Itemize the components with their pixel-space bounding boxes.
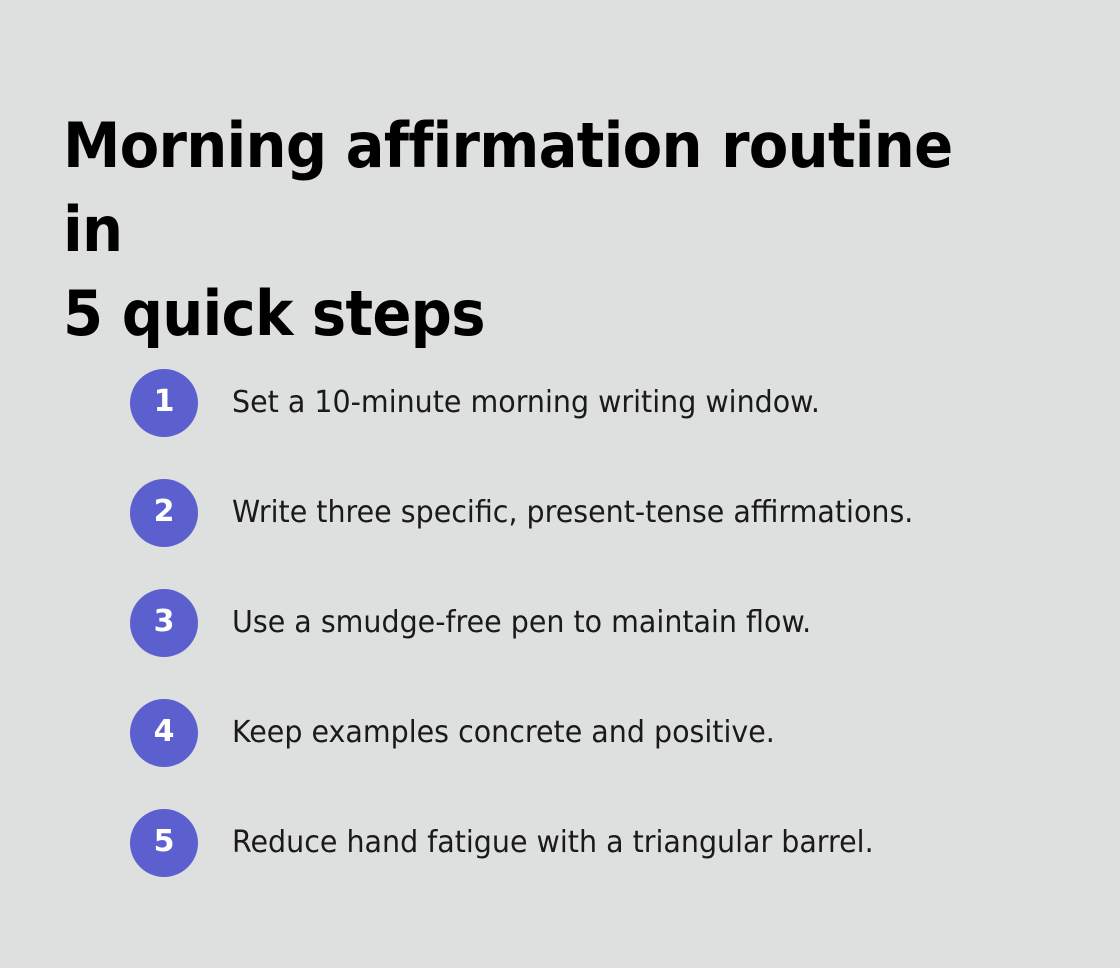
step-number-badge: 5 <box>130 809 198 877</box>
step-number-badge: 2 <box>130 479 198 547</box>
step-label: Write three specific, present-tense affi… <box>232 493 913 533</box>
list-item: 1 Set a 10-minute morning writing window… <box>130 369 1060 437</box>
list-item: 3 Use a smudge-free pen to maintain flow… <box>130 589 1060 657</box>
list-item: 5 Reduce hand fatigue with a triangular … <box>130 809 1060 877</box>
step-number-badge: 4 <box>130 699 198 767</box>
step-label: Use a smudge-free pen to maintain flow. <box>232 603 811 643</box>
step-label: Set a 10-minute morning writing window. <box>232 383 820 423</box>
step-label: Reduce hand fatigue with a triangular ba… <box>232 823 874 863</box>
step-list: 1 Set a 10-minute morning writing window… <box>130 369 1060 877</box>
step-label: Keep examples concrete and positive. <box>232 713 775 753</box>
list-item: 4 Keep examples concrete and positive. <box>130 699 1060 767</box>
list-item: 2 Write three specific, present-tense af… <box>130 479 1060 547</box>
page-title: Morning affirmation routine in 5 quick s… <box>63 104 1002 356</box>
step-number-badge: 3 <box>130 589 198 657</box>
infographic-canvas: Morning affirmation routine in 5 quick s… <box>0 0 1120 968</box>
step-number-badge: 1 <box>130 369 198 437</box>
